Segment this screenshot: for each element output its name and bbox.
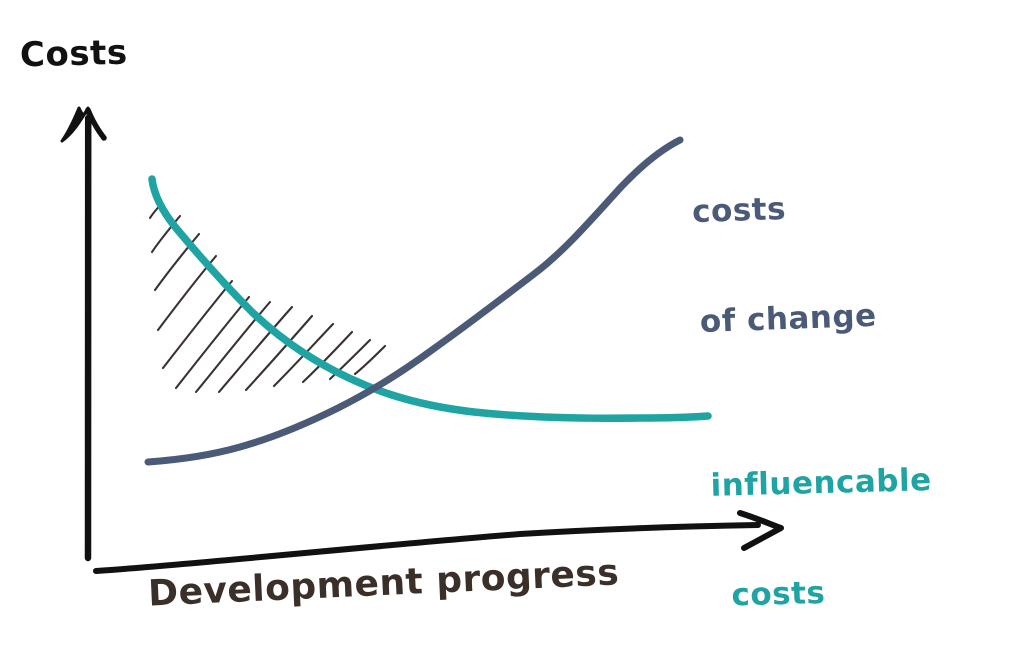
y-axis	[62, 108, 104, 558]
influencable-costs-curve	[152, 179, 708, 418]
influencable-costs-label: influencable costs	[708, 389, 937, 651]
sketch-canvas: Costs Development progress costs of chan…	[0, 0, 1024, 651]
hatched-region	[150, 204, 385, 392]
influencable-costs-label-line1: influencable	[710, 462, 932, 504]
costs-of-change-label-line1: costs	[692, 188, 874, 231]
y-axis-label: Costs	[19, 33, 128, 76]
series-costs-of-change	[148, 140, 680, 462]
y-axis-arrowhead	[62, 108, 88, 141]
costs-of-change-curve	[148, 140, 680, 462]
costs-of-change-label: costs of change	[689, 115, 880, 414]
costs-of-change-label-line2: of change	[699, 298, 877, 341]
influencable-costs-label-line2: costs	[731, 572, 935, 614]
series-influencable-costs	[152, 179, 708, 418]
y-axis-line	[87, 118, 88, 558]
